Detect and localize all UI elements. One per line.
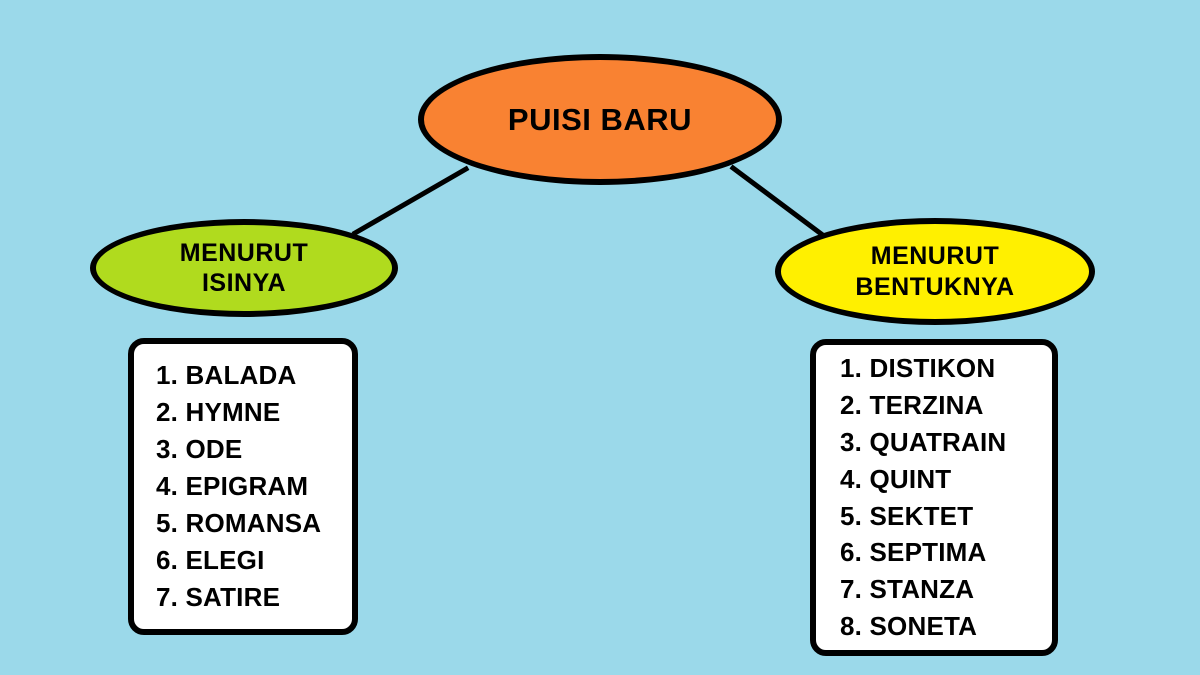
list-item: 2. TERZINA xyxy=(840,387,1052,424)
node-menurut-bentuknya-label-line2: BENTUKNYA xyxy=(855,272,1014,303)
list-item: 4. QUINT xyxy=(840,461,1052,498)
list-item: 6. ELEGI xyxy=(156,542,352,579)
list-box-isinya: 1. BALADA 2. HYMNE 3. ODE 4. EPIGRAM 5. … xyxy=(128,338,358,635)
list-item: 5. SEKTET xyxy=(840,498,1052,535)
node-menurut-isinya-label-line1: MENURUT xyxy=(180,238,309,269)
list-box-bentuknya: 1. DISTIKON 2. TERZINA 3. QUATRAIN 4. QU… xyxy=(810,339,1058,656)
list-item: 2. HYMNE xyxy=(156,394,352,431)
connector-root-to-bentuknya xyxy=(733,168,824,236)
list-item: 6. SEPTIMA xyxy=(840,534,1052,571)
list-item: 3. QUATRAIN xyxy=(840,424,1052,461)
node-menurut-bentuknya-label-line1: MENURUT xyxy=(871,241,1000,272)
connector-root-to-isinya xyxy=(355,169,466,233)
list-item: 7. SATIRE xyxy=(156,579,352,616)
node-menurut-bentuknya[interactable]: MENURUT BENTUKNYA xyxy=(775,218,1095,325)
list-item: 5. ROMANSA xyxy=(156,505,352,542)
node-menurut-isinya[interactable]: MENURUT ISINYA xyxy=(90,219,398,317)
list-item: 7. STANZA xyxy=(840,571,1052,608)
diagram-canvas: PUISI BARU MENURUT ISINYA MENURUT BENTUK… xyxy=(0,0,1200,675)
list-item: 8. SONETA xyxy=(840,608,1052,645)
node-puisi-baru-label: PUISI BARU xyxy=(508,101,692,139)
list-item: 4. EPIGRAM xyxy=(156,468,352,505)
node-menurut-isinya-label-line2: ISINYA xyxy=(202,268,286,299)
list-item: 1. DISTIKON xyxy=(840,350,1052,387)
list-item: 1. BALADA xyxy=(156,357,352,394)
list-item: 3. ODE xyxy=(156,431,352,468)
node-puisi-baru[interactable]: PUISI BARU xyxy=(418,54,782,185)
